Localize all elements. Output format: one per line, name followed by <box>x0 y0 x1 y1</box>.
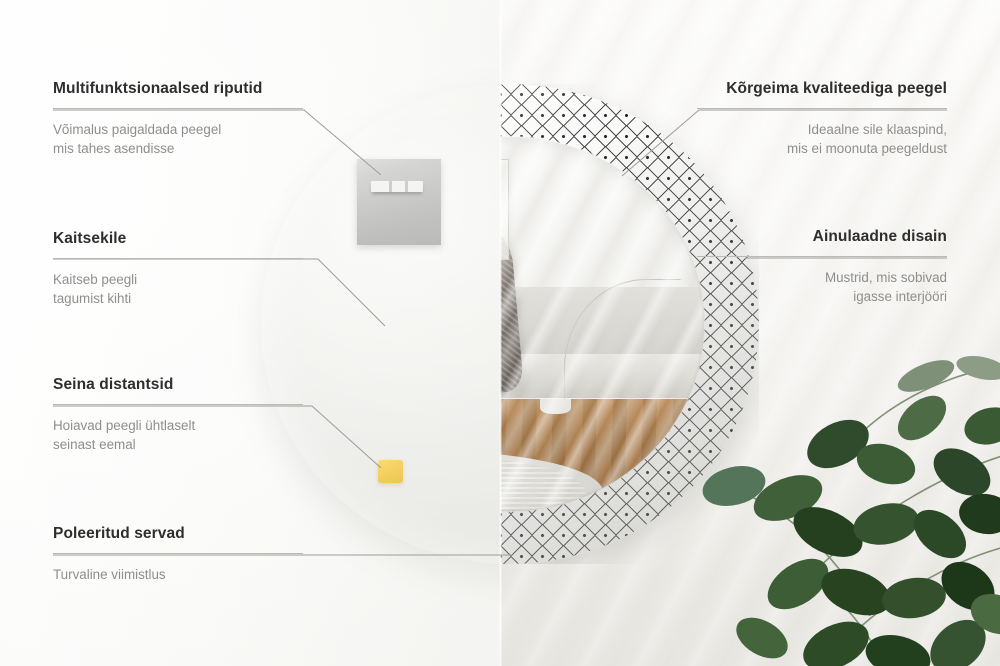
callout-spacers-line1: Hoiavad peegli ühtlaselt <box>53 416 303 435</box>
callout-design-line1: Mustrid, mis sobivad <box>697 268 947 287</box>
callout-edges-rule <box>53 553 303 554</box>
infographic-canvas: Multifunktsionaalsed riputid Võimalus pa… <box>0 0 1000 666</box>
callout-design-rule <box>697 256 947 257</box>
callout-spacers-line2: seinast eemal <box>53 435 303 454</box>
callout-quality: Kõrgeima kvaliteediga peegel Ideaalne si… <box>697 80 947 158</box>
callout-quality-line2: mis ei moonuta peegeldust <box>697 139 947 158</box>
callout-quality-line1: Ideaalne sile klaaspind, <box>697 120 947 139</box>
callout-quality-rule <box>697 108 947 109</box>
callout-quality-title: Kõrgeima kvaliteediga peegel <box>697 80 947 99</box>
callout-hangers-line1: Võimalus paigaldada peegel <box>53 120 303 139</box>
panel-divider <box>499 0 502 666</box>
callout-design: Ainulaadne disain Mustrid, mis sobivad i… <box>697 228 947 306</box>
callout-spacers-rule <box>53 404 303 405</box>
callout-backing-line1: Kaitseb peegli <box>53 270 303 289</box>
callout-hangers: Multifunktsionaalsed riputid Võimalus pa… <box>53 80 303 158</box>
callout-hangers-line2: mis tahes asendisse <box>53 139 303 158</box>
callout-spacers-title: Seina distantsid <box>53 376 303 395</box>
hanger-slot-icon <box>371 181 423 192</box>
yellow-wall-spacer <box>378 460 403 483</box>
callout-edges-title: Poleeritud servad <box>53 525 303 544</box>
green-leaf-branches <box>690 346 1000 666</box>
callout-backing: Kaitsekile Kaitseb peegli tagumist kihti <box>53 230 303 308</box>
callout-edges: Poleeritud servad Turvaline viimistlus <box>53 525 303 584</box>
keyhole-hanger-plate <box>357 159 441 245</box>
callout-spacers: Seina distantsid Hoiavad peegli ühtlasel… <box>53 376 303 454</box>
callout-design-title: Ainulaadne disain <box>697 228 947 247</box>
callout-backing-rule <box>53 258 303 259</box>
callout-edges-line1: Turvaline viimistlus <box>53 565 303 584</box>
callout-design-line2: igasse interjööri <box>697 287 947 306</box>
callout-hangers-title: Multifunktsionaalsed riputid <box>53 80 303 99</box>
callout-hangers-rule <box>53 108 303 109</box>
callout-backing-title: Kaitsekile <box>53 230 303 249</box>
callout-backing-line2: tagumist kihti <box>53 289 303 308</box>
